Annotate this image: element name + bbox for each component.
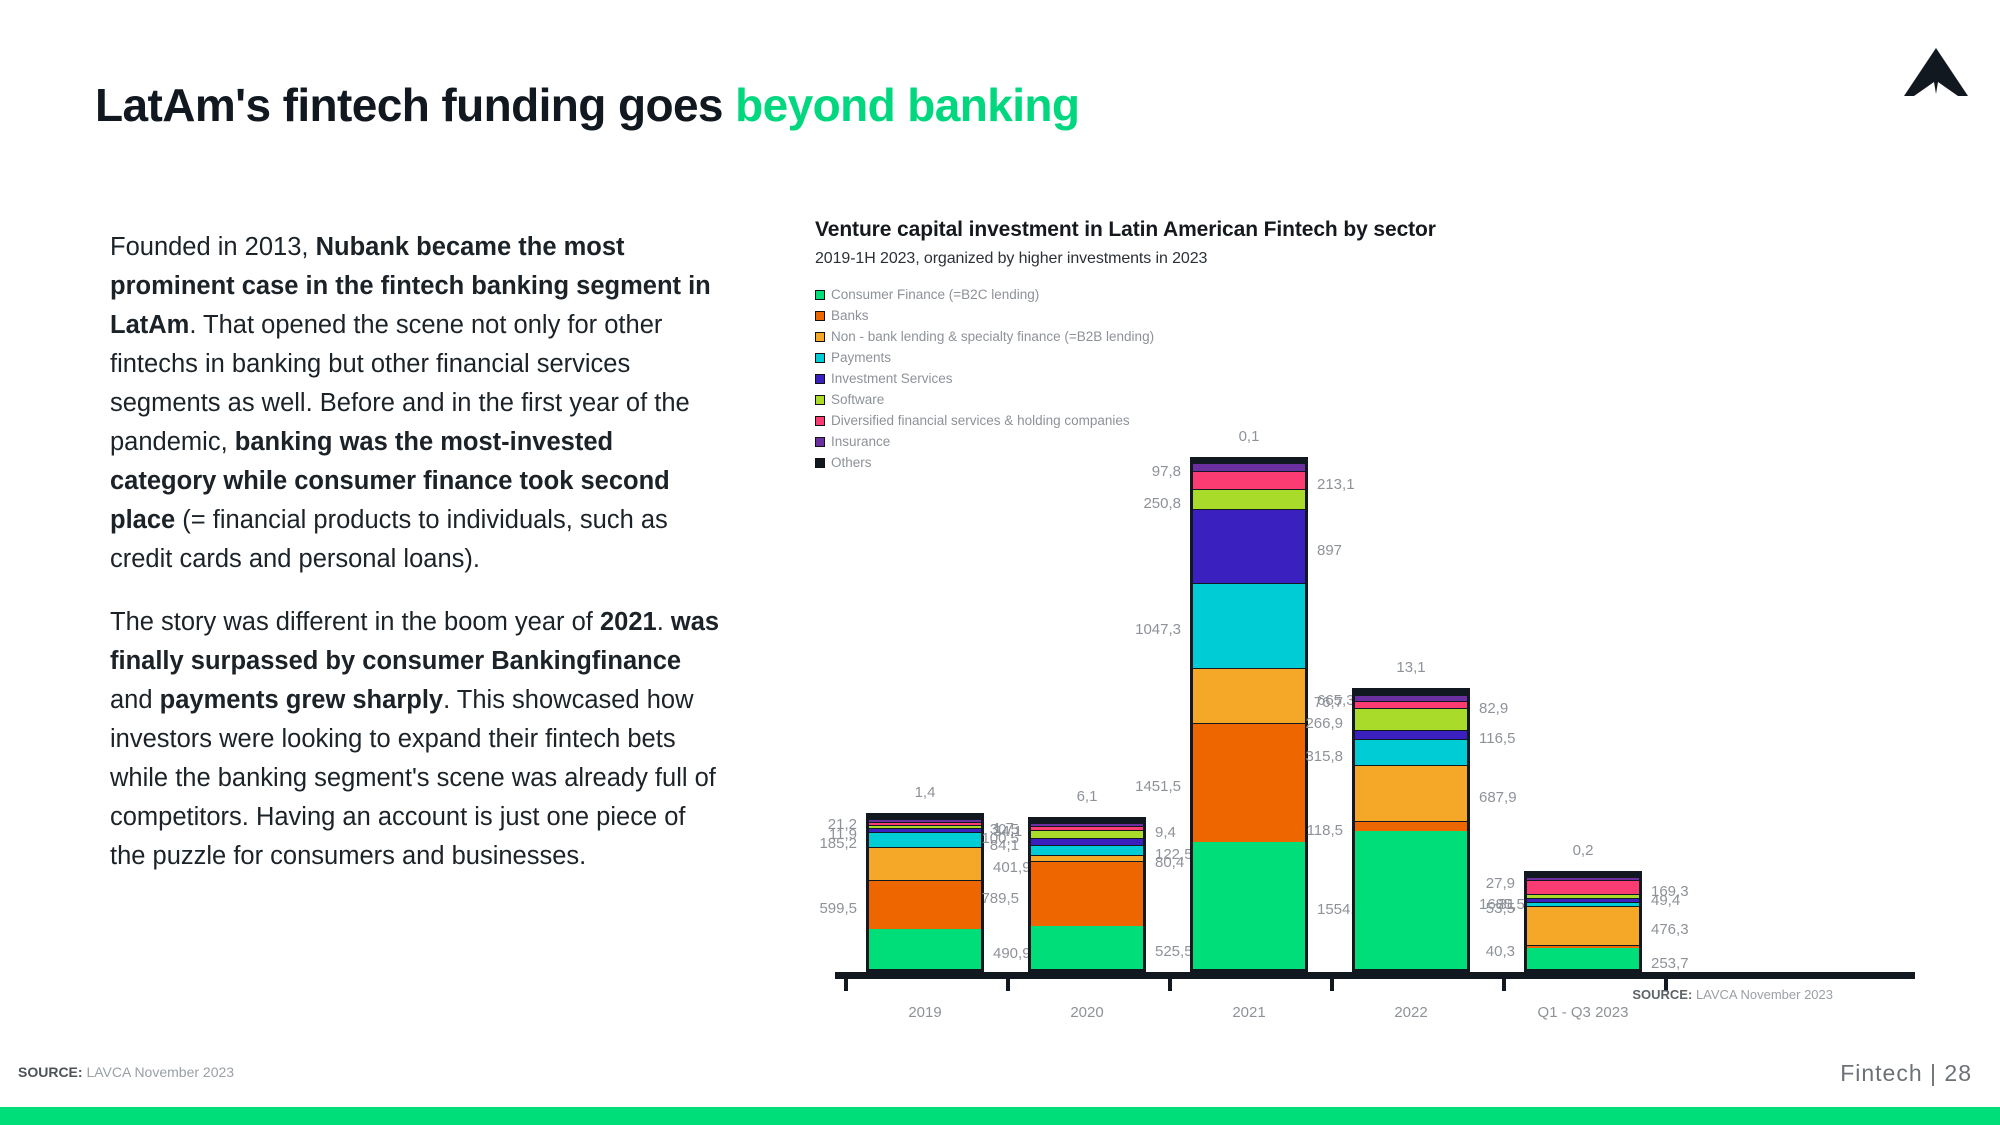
bar-column [1352,688,1470,972]
bar-value-label: 476,3 [1651,921,1689,938]
page-title: LatAm's fintech funding goes beyond bank… [95,78,1079,132]
legend-swatch-icon [815,311,825,321]
bar-value-label: 266,9 [1305,715,1343,732]
stacked-bar[interactable] [1190,457,1308,972]
copy-emphasis: 2021 [600,608,657,636]
bar-value-label: 30,5 [990,821,1019,838]
bar-segment[interactable] [1527,906,1639,945]
bar-segment[interactable] [1193,471,1305,488]
legend-item[interactable]: Software [815,389,1925,410]
chart-container: Venture capital investment in Latin Amer… [815,218,1925,998]
legend-swatch-icon [815,353,825,363]
copy-text: The story was different in the boom year… [110,608,600,636]
bar-segment[interactable] [869,880,981,929]
legend-item[interactable]: Others [815,452,1925,473]
bar-segment[interactable] [1355,739,1467,765]
footer-page-number: 28 [1944,1060,1972,1086]
legend-label: Banks [831,308,869,323]
bar-value-label: 82,9 [1479,700,1508,717]
slide: LatAm's fintech funding goes beyond bank… [0,0,2000,1125]
stacked-bar[interactable] [1028,817,1146,972]
bar-segment[interactable] [1193,489,1305,510]
bar-value-label: 213,1 [1317,476,1355,493]
bar-segment[interactable] [1031,861,1143,926]
copy-text: . [657,608,671,636]
legend-item[interactable]: Investment Services [815,368,1925,389]
bar-segment[interactable] [1193,463,1305,471]
legend-item[interactable]: Consumer Finance (=B2C lending) [815,284,1925,305]
bar-value-label: 76,7 [1314,694,1343,711]
bar-segment[interactable] [1355,765,1467,821]
bar-segment[interactable] [1355,821,1467,831]
bar-value-label: 401,9 [993,859,1031,876]
axis-tick [1006,978,1010,991]
bar-segment[interactable] [1193,509,1305,582]
bar-segment[interactable] [1355,708,1467,730]
legend-label: Insurance [831,434,890,449]
legend-swatch-icon [815,290,825,300]
bar-column [1524,871,1642,972]
body-copy: Founded in 2013, Nubank became the most … [110,228,725,900]
legend-label: Others [831,455,872,470]
axis-tick [1330,978,1334,991]
bar-value-label: 97,8 [1152,463,1181,480]
axis-tick [844,978,848,991]
bar-column [866,813,984,972]
bar-value-label: 599,5 [819,900,857,917]
headline-accent: beyond banking [735,79,1079,131]
legend-swatch-icon [815,374,825,384]
stacked-bar[interactable] [866,813,984,972]
bar-segment[interactable] [1193,583,1305,669]
bar-value-label: 315,8 [1305,748,1343,765]
bar-value-label: 687,9 [1479,789,1517,806]
bar-segment[interactable] [869,929,981,969]
bar-segment[interactable] [1031,830,1143,838]
bar-segment[interactable] [1193,668,1305,722]
copy-text: Founded in 2013, [110,233,316,261]
bar-value-label: 9,4 [1155,824,1176,841]
bar-value-label: 525,5 [1155,943,1193,960]
chart-source-prefix: SOURCE: [1632,987,1692,1002]
bar-value-label: 250,8 [1143,495,1181,512]
bar-value-label: 789,5 [981,890,1019,907]
chart-legend: Consumer Finance (=B2C lending)BanksNon … [815,284,1925,473]
copy-text: and [110,686,160,714]
bar-value-label: 31 [1498,896,1515,913]
bar-value-label: 122,5 [1155,846,1193,863]
legend-item[interactable]: Banks [815,305,1925,326]
paragraph-2: The story was different in the boom year… [110,603,725,876]
bar-value-label: 1,4 [865,784,985,801]
bar-value-label: 490,9 [993,945,1031,962]
footer-source-text: LAVCA November 2023 [86,1064,234,1080]
footer-divider: | [1930,1060,1937,1086]
legend-label: Payments [831,350,891,365]
bar-segment[interactable] [1031,845,1143,855]
bar-segment[interactable] [1527,948,1639,969]
footer-section: Fintech [1840,1060,1922,1086]
footer-source: SOURCE: LAVCA November 2023 [18,1064,234,1080]
stacked-bar[interactable] [1352,688,1470,972]
footer-accent-bar [0,1107,2000,1125]
footer-page-info: Fintech | 28 [1840,1060,1972,1087]
bar-value-label: 897 [1317,542,1342,559]
legend-swatch-icon [815,458,825,468]
bar-value-label: 13,1 [1351,659,1471,676]
bar-segment[interactable] [1031,855,1143,862]
bar-segment[interactable] [869,832,981,847]
bar-segment[interactable] [1355,831,1467,969]
bar-segment[interactable] [1527,880,1639,894]
legend-swatch-icon [815,332,825,342]
legend-label: Consumer Finance (=B2C lending) [831,287,1039,302]
bar-column [1190,457,1308,972]
bar-value-label: 1047,3 [1135,621,1181,638]
bar-segment[interactable] [1031,926,1143,969]
chart-source-text: LAVCA November 2023 [1696,987,1833,1002]
axis-category-label: Q1 - Q3 2023 [1473,1004,1693,1021]
headline-part1: LatAm's fintech funding goes [95,79,735,131]
legend-item[interactable]: Insurance [815,431,1925,452]
bar-value-label: 253,7 [1651,955,1689,972]
legend-label: Diversified financial services & holding… [831,413,1130,428]
bar-value-label: 0,1 [1189,428,1309,445]
bar-value-label: 21,2 [828,816,857,833]
bar-value-label: 116,5 [1479,730,1515,747]
bar-segment[interactable] [869,847,981,880]
bar-segment[interactable] [1355,730,1467,740]
chart-subtitle: 2019-1H 2023, organized by higher invest… [815,250,1925,268]
copy-text: (= financial products to individuals, su… [110,506,668,573]
bar-segment[interactable] [1193,723,1305,842]
copy-emphasis: payments grew sharply [160,686,443,714]
axis-tick [1168,978,1172,991]
legend-label: Investment Services [831,371,953,386]
chart-plot-area: 490,9599,5401,9185,211,934,11,721,21,420… [815,481,1925,1041]
bar-value-label: 118,5 [1307,822,1343,839]
bar-segment[interactable] [1355,701,1467,708]
legend-label: Non - bank lending & specialty finance (… [831,329,1154,344]
bar-value-label: 27,9 [1486,875,1515,892]
legend-swatch-icon [815,416,825,426]
paragraph-1: Founded in 2013, Nubank became the most … [110,228,725,579]
bar-column [1028,817,1146,972]
bar-value-label: 40,3 [1486,943,1515,960]
bar-value-label: 1451,5 [1135,778,1181,795]
legend-label: Software [831,392,884,407]
bar-value-label: 169,3 [1651,883,1689,900]
x-axis-line [835,972,1915,979]
legend-item[interactable]: Diversified financial services & holding… [815,410,1925,431]
bar-segment[interactable] [1193,842,1305,969]
legend-swatch-icon [815,395,825,405]
bar-segment[interactable] [1031,838,1143,845]
legend-item[interactable]: Non - bank lending & specialty finance (… [815,326,1925,347]
bar-value-label: 0,2 [1523,842,1643,859]
chart-title: Venture capital investment in Latin Amer… [815,218,1925,242]
legend-item[interactable]: Payments [815,347,1925,368]
footer-source-prefix: SOURCE: [18,1064,83,1080]
chart-source: SOURCE: LAVCA November 2023 [1632,987,1833,1002]
axis-tick [1502,978,1506,991]
bar-value-label: 6,1 [1027,788,1147,805]
stacked-bar[interactable] [1524,871,1642,972]
arrow-up-logo-icon [1900,38,1972,110]
legend-swatch-icon [815,437,825,447]
